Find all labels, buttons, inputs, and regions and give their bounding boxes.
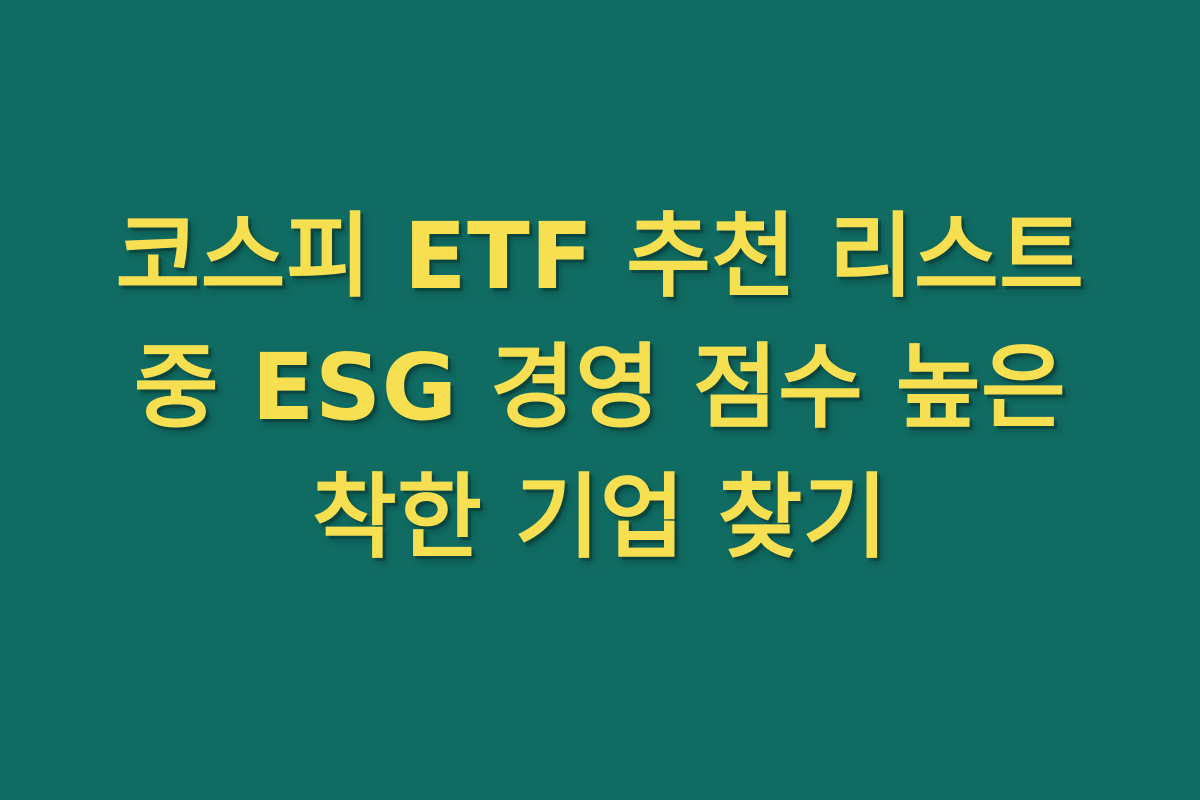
headline-line-1: 코스피 ETF 추천 리스트 bbox=[50, 192, 1150, 323]
headline-block: 코스피 ETF 추천 리스트 중 ESG 경영 점수 높은 착한 기업 찾기 bbox=[50, 192, 1150, 584]
headline-line-2: 중 ESG 경영 점수 높은 bbox=[50, 323, 1150, 454]
headline-line-3: 착한 기업 찾기 bbox=[50, 453, 1150, 584]
thumbnail-card: 코스피 ETF 추천 리스트 중 ESG 경영 점수 높은 착한 기업 찾기 bbox=[0, 0, 1200, 800]
